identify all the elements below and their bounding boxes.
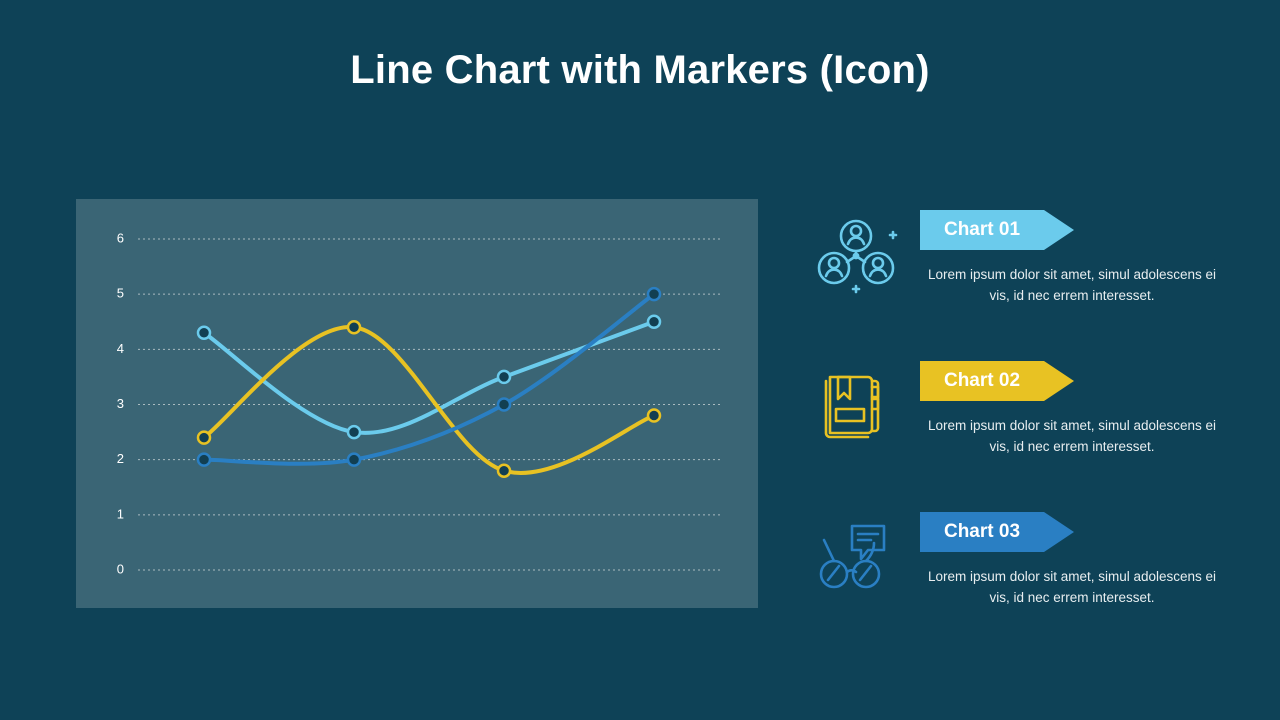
banner-chart-03[interactable]: Chart 03 xyxy=(920,512,1074,552)
banner-label: Chart 03 xyxy=(920,512,1044,552)
chart-y-axis-labels: 0123456 xyxy=(117,230,124,576)
legend-item-chart-02[interactable]: Chart 02 Lorem ipsum dolor sit amet, sim… xyxy=(812,353,1242,483)
legend-description: Lorem ipsum dolor sit amet, simul adoles… xyxy=(922,264,1222,306)
y-axis-tick-label: 1 xyxy=(117,506,124,521)
chart-gridlines xyxy=(138,239,722,570)
data-point-marker[interactable] xyxy=(348,454,360,466)
people-network-icon xyxy=(812,210,900,298)
y-axis-tick-label: 2 xyxy=(117,451,124,466)
glasses-speech-bubble-icon xyxy=(812,512,900,600)
y-axis-tick-label: 5 xyxy=(117,286,124,301)
data-point-marker[interactable] xyxy=(198,454,210,466)
banner-label: Chart 01 xyxy=(920,210,1044,250)
series-line-3 xyxy=(204,294,654,464)
y-axis-tick-label: 0 xyxy=(117,561,124,576)
y-axis-tick-label: 4 xyxy=(117,341,124,356)
legend-item-chart-01[interactable]: Chart 01 Lorem ipsum dolor sit amet, sim… xyxy=(812,202,1242,332)
data-point-marker[interactable] xyxy=(498,399,510,411)
data-point-marker[interactable] xyxy=(498,465,510,477)
legend-item-chart-03[interactable]: Chart 03 Lorem ipsum dolor sit amet, sim… xyxy=(812,504,1242,634)
chart-panel: 0123456 xyxy=(76,199,758,608)
data-point-marker[interactable] xyxy=(648,316,660,328)
data-point-marker[interactable] xyxy=(198,432,210,444)
data-point-marker[interactable] xyxy=(198,327,210,339)
banner-label: Chart 02 xyxy=(920,361,1044,401)
data-point-marker[interactable] xyxy=(348,426,360,438)
legend-description: Lorem ipsum dolor sit amet, simul adoles… xyxy=(922,566,1222,608)
series-line-1 xyxy=(204,322,654,433)
y-axis-tick-label: 6 xyxy=(117,230,124,245)
data-point-marker[interactable] xyxy=(498,371,510,383)
banner-chart-01[interactable]: Chart 01 xyxy=(920,210,1074,250)
legend-description: Lorem ipsum dolor sit amet, simul adoles… xyxy=(922,415,1222,457)
data-point-marker[interactable] xyxy=(348,321,360,333)
y-axis-tick-label: 3 xyxy=(117,396,124,411)
notebook-bookmark-icon xyxy=(812,361,900,449)
page-title: Line Chart with Markers (Icon) xyxy=(0,48,1280,93)
line-chart: 0123456 xyxy=(76,199,758,608)
data-point-marker[interactable] xyxy=(648,410,660,422)
slide-canvas: Line Chart with Markers (Icon) 0123456 xyxy=(0,0,1280,720)
banner-chart-02[interactable]: Chart 02 xyxy=(920,361,1074,401)
chart-series-lines xyxy=(204,294,654,473)
data-point-marker[interactable] xyxy=(648,288,660,300)
